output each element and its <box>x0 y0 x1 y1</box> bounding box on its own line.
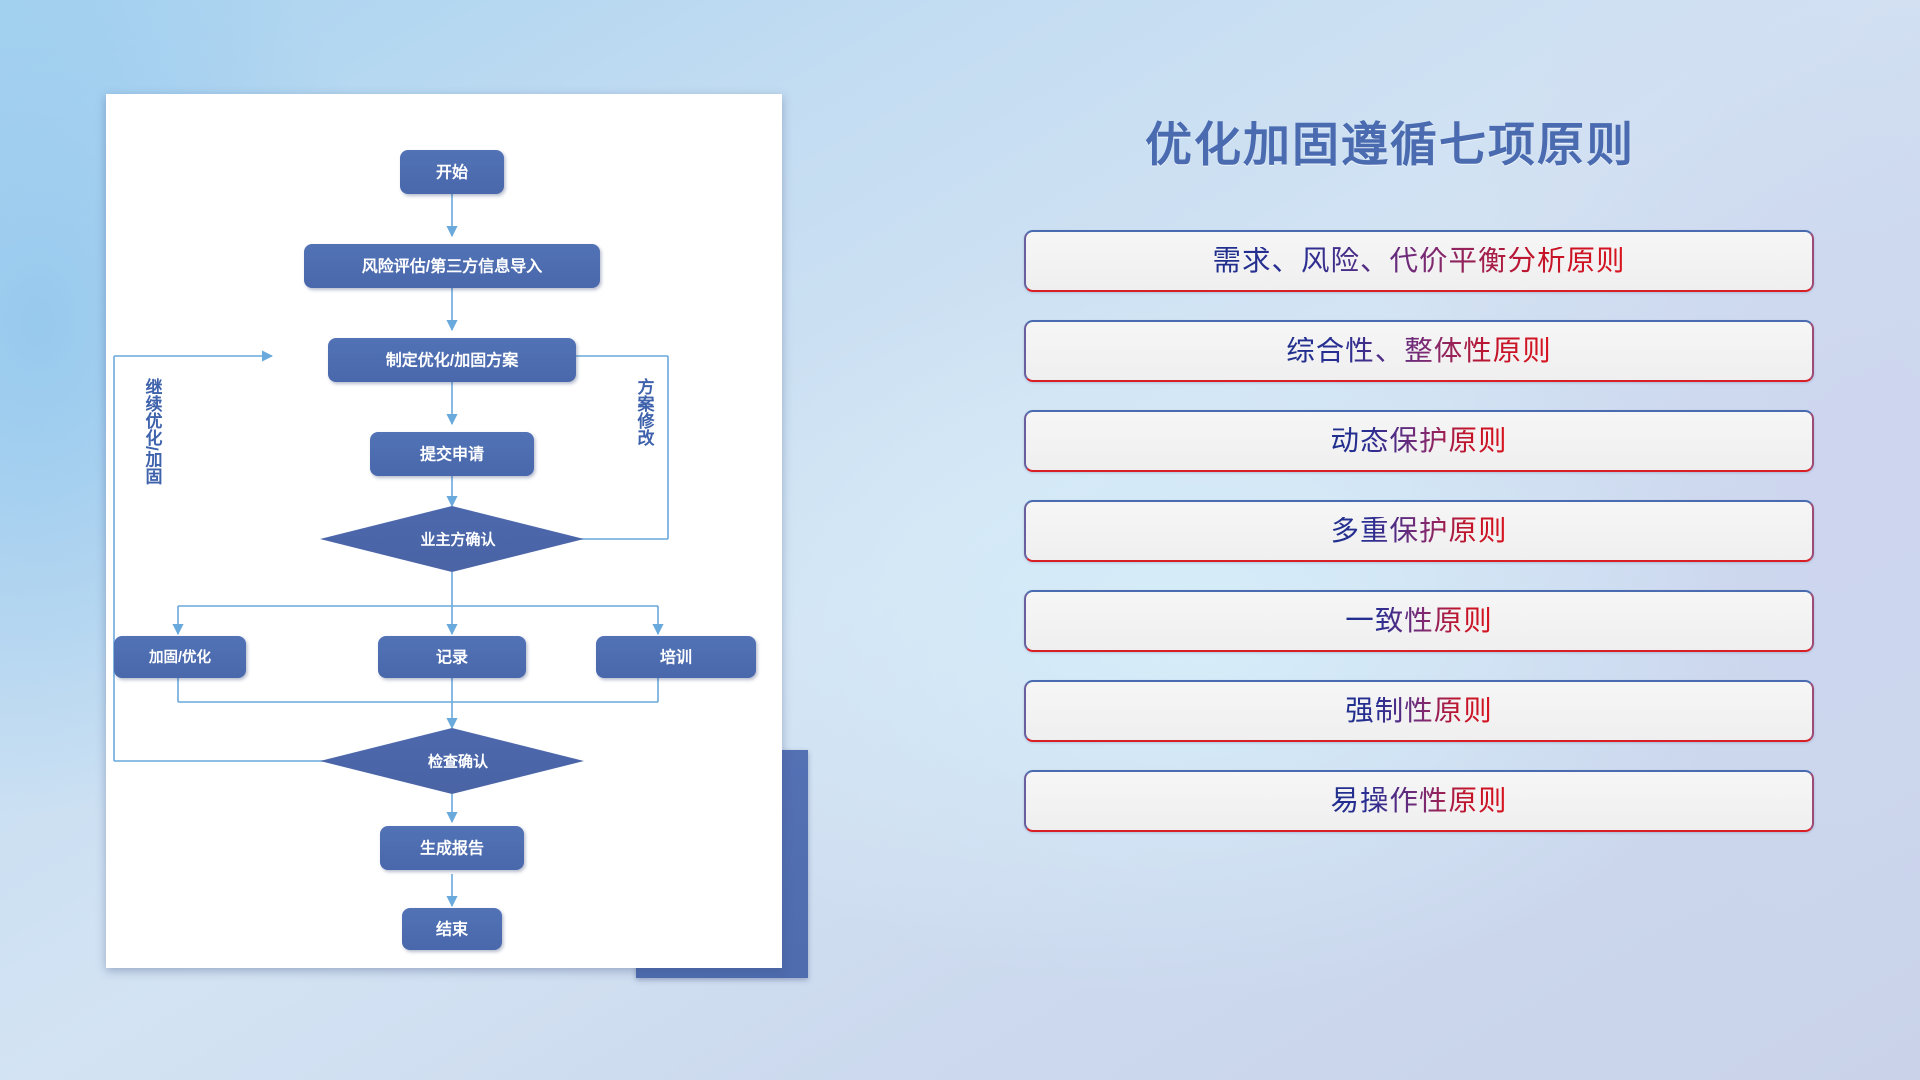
flow-node-owner-confirm[interactable]: 业主方确认 <box>320 506 584 572</box>
edge-label-left-loop: 继续优化/加固 <box>143 377 164 486</box>
principle-item-3-label: 动态保护原则 <box>1330 427 1507 456</box>
principle-item-1-label: 需求、风险、代价平衡分析原则 <box>1212 247 1625 276</box>
flow-node-end[interactable]: 结束 <box>402 908 502 950</box>
principles-panel: 优化加固遵循七项原则 需求、风险、代价平衡分析原则 综合性、整体性原则 动态保护… <box>860 0 1920 1080</box>
principle-item-2-label: 综合性、整体性原则 <box>1286 337 1552 366</box>
flow-node-reinforce[interactable]: 加固/优化 <box>114 636 246 678</box>
flowchart-panel: 继续优化/加固 方案修改 开始 风险评估/第三方信息导入 制定优化/加固方案 提… <box>0 0 860 1080</box>
flow-node-end-label: 结束 <box>435 920 469 939</box>
principle-item-1[interactable]: 需求、风险、代价平衡分析原则 <box>1024 230 1814 292</box>
principle-item-7[interactable]: 易操作性原则 <box>1024 770 1814 832</box>
principle-item-5-label: 一致性原则 <box>1345 607 1493 636</box>
flow-node-report-label: 生成报告 <box>420 839 484 858</box>
principle-item-5[interactable]: 一致性原则 <box>1024 590 1814 652</box>
principle-item-6-label: 强制性原则 <box>1345 697 1493 726</box>
flow-node-risk-label: 风险评估/第三方信息导入 <box>362 257 542 276</box>
flow-node-reinforce-label: 加固/优化 <box>148 648 212 666</box>
principle-item-6[interactable]: 强制性原则 <box>1024 680 1814 742</box>
flow-node-submit-label: 提交申请 <box>420 445 484 464</box>
flowchart-diagram: 继续优化/加固 方案修改 开始 风险评估/第三方信息导入 制定优化/加固方案 提… <box>106 94 782 968</box>
flow-node-submit[interactable]: 提交申请 <box>370 432 534 476</box>
flow-node-owner-confirm-label: 业主方确认 <box>420 531 496 549</box>
flow-node-plan[interactable]: 制定优化/加固方案 <box>328 338 576 382</box>
flow-node-check-label: 检查确认 <box>428 753 489 771</box>
principle-item-4-label: 多重保护原则 <box>1330 517 1507 546</box>
flow-node-record[interactable]: 记录 <box>378 636 526 678</box>
edge-label-right-loop: 方案修改 <box>635 377 656 447</box>
flow-node-report[interactable]: 生成报告 <box>380 826 524 870</box>
flow-node-check[interactable]: 检查确认 <box>320 728 584 794</box>
flow-node-plan-label: 制定优化/加固方案 <box>386 351 519 370</box>
flow-node-start-label: 开始 <box>436 163 468 182</box>
flow-node-training[interactable]: 培训 <box>596 636 756 678</box>
flow-node-record-label: 记录 <box>436 649 468 667</box>
flow-node-training-label: 培训 <box>660 648 692 667</box>
principle-item-4[interactable]: 多重保护原则 <box>1024 500 1814 562</box>
principles-list: 需求、风险、代价平衡分析原则 综合性、整体性原则 动态保护原则 多重保护原则 一… <box>1024 230 1814 860</box>
principle-item-3[interactable]: 动态保护原则 <box>1024 410 1814 472</box>
flow-node-start[interactable]: 开始 <box>400 150 504 194</box>
page-title: 优化加固遵循七项原则 <box>860 106 1920 175</box>
principle-item-7-label: 易操作性原则 <box>1330 787 1507 816</box>
flow-node-risk[interactable]: 风险评估/第三方信息导入 <box>304 244 600 288</box>
principle-item-2[interactable]: 综合性、整体性原则 <box>1024 320 1814 382</box>
